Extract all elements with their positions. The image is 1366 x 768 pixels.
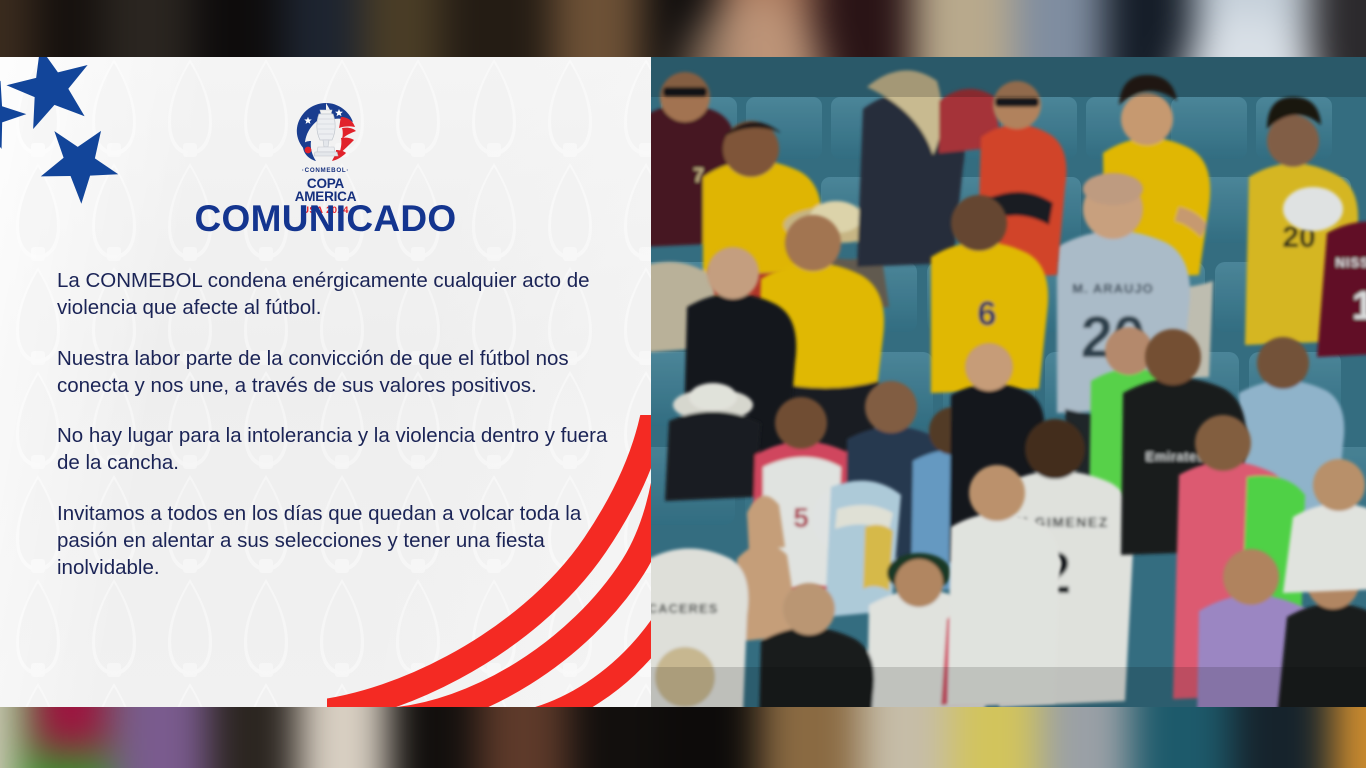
stadium-brawl-photo: 7 <box>651 57 1366 707</box>
blurred-backdrop-bottom <box>0 707 1366 768</box>
statement-paragraph: Nuestra labor parte de la convicción de … <box>57 345 623 400</box>
copa-america-trophy-icon <box>294 100 358 164</box>
backdrop-top-image <box>0 0 1366 57</box>
statement-paragraph: La CONMEBOL condena enérgicamente cualqu… <box>57 267 623 322</box>
statement-paragraph: No hay lugar para la intolerancia y la v… <box>57 422 623 477</box>
backdrop-bottom-image <box>0 707 1366 768</box>
statement-paragraph: Invitamos a todos en los días que quedan… <box>57 500 623 582</box>
page-title: COMUNICADO <box>0 198 651 240</box>
logo-conmebol-text: ·CONMEBOL· <box>278 168 374 174</box>
screenshot-stage: ·CONMEBOL· COPA AMERICA USA 2024 COMUNIC… <box>0 0 1366 768</box>
statement-body: La CONMEBOL condena enérgicamente cualqu… <box>57 267 623 581</box>
comunicado-card: ·CONMEBOL· COPA AMERICA USA 2024 COMUNIC… <box>0 57 651 707</box>
blurred-backdrop-top <box>0 0 1366 57</box>
